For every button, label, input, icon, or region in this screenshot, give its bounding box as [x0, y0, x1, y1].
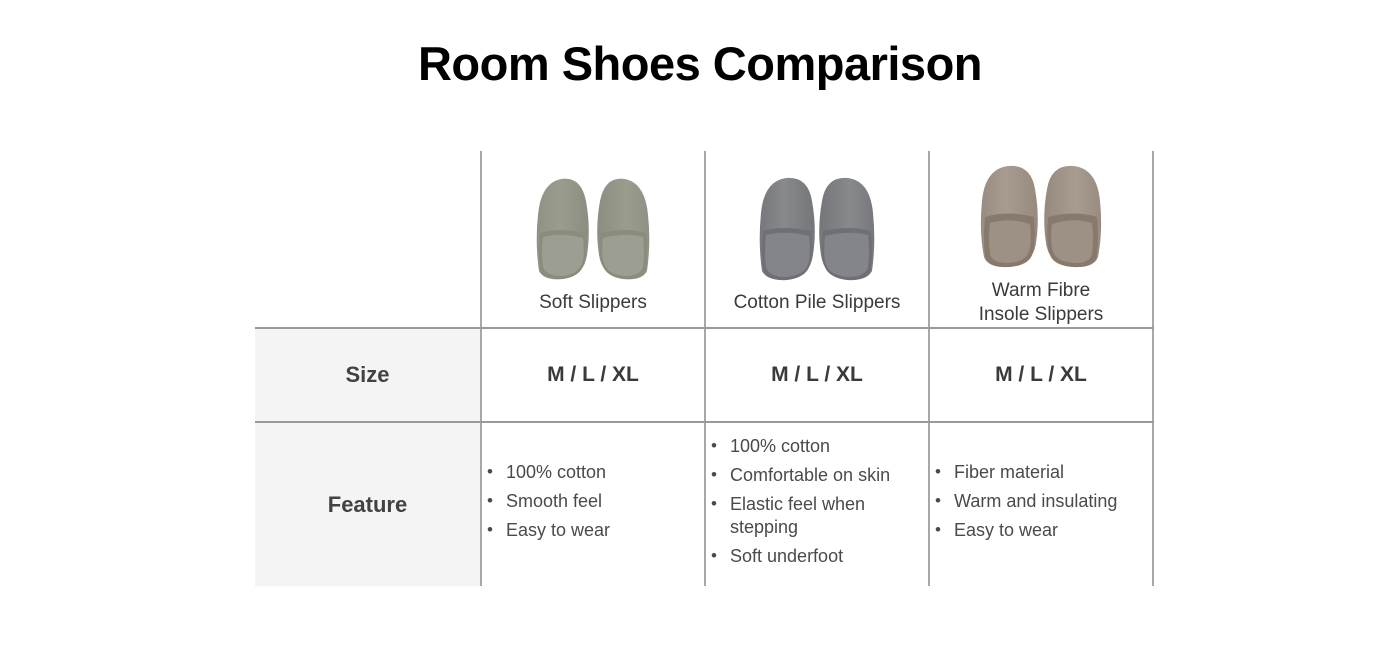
row-label-feature: Feature: [255, 422, 481, 586]
cotton-pile-slippers-photo: [706, 163, 928, 283]
feature-item: Fiber material: [930, 461, 1152, 484]
feature-cell-warm-fibre-insole-slippers: Fiber material Warm and insulating Easy …: [929, 422, 1153, 586]
soft-slippers-photo: [482, 163, 704, 283]
product-name-label: Soft Slippers: [482, 291, 704, 315]
warm-fibre-insole-slippers-photo: [930, 151, 1152, 271]
comparison-table: Soft Slippers: [255, 151, 1154, 586]
comparison-page: Room Shoes Comparison: [0, 0, 1400, 645]
product-name-label: Cotton Pile Slippers: [706, 291, 928, 315]
slipper-pair-illustration: [753, 163, 881, 283]
feature-list: 100% cotton Smooth feel Easy to wear: [482, 461, 704, 542]
feature-list: 100% cotton Comfortable on skin Elastic …: [706, 435, 928, 568]
table-row-feature: Feature 100% cotton Smooth feel Easy to …: [255, 422, 1153, 586]
product-header-soft-slippers[interactable]: Soft Slippers: [481, 151, 705, 328]
slipper-pair-illustration: [975, 153, 1107, 271]
page-title: Room Shoes Comparison: [0, 36, 1400, 91]
product-name-label: Warm Fibre Insole Slippers: [930, 279, 1152, 327]
feature-item: 100% cotton: [482, 461, 704, 484]
feature-item: Warm and insulating: [930, 490, 1152, 513]
feature-item: 100% cotton: [706, 435, 928, 458]
table-row-size: Size M / L / XL M / L / XL M / L / XL: [255, 328, 1153, 422]
feature-item: Smooth feel: [482, 490, 704, 513]
size-value-soft-slippers: M / L / XL: [481, 328, 705, 422]
feature-item: Elastic feel when stepping: [706, 493, 928, 539]
row-label-size: Size: [255, 328, 481, 422]
size-value-warm-fibre-insole-slippers: M / L / XL: [929, 328, 1153, 422]
feature-item: Easy to wear: [930, 519, 1152, 542]
feature-cell-cotton-pile-slippers: 100% cotton Comfortable on skin Elastic …: [705, 422, 929, 586]
feature-item: Comfortable on skin: [706, 464, 928, 487]
feature-item: Soft underfoot: [706, 545, 928, 568]
feature-list: Fiber material Warm and insulating Easy …: [930, 461, 1152, 542]
table-header-row: Soft Slippers: [255, 151, 1153, 328]
header-corner-cell: [255, 151, 481, 328]
product-name-line-1: Warm Fibre: [992, 280, 1091, 301]
feature-item: Easy to wear: [482, 519, 704, 542]
product-name-line-2: Insole Slippers: [979, 304, 1104, 325]
product-header-warm-fibre-insole-slippers[interactable]: Warm Fibre Insole Slippers: [929, 151, 1153, 328]
product-header-cotton-pile-slippers[interactable]: Cotton Pile Slippers: [705, 151, 929, 328]
size-value-cotton-pile-slippers: M / L / XL: [705, 328, 929, 422]
slipper-pair-illustration: [529, 163, 657, 283]
feature-cell-soft-slippers: 100% cotton Smooth feel Easy to wear: [481, 422, 705, 586]
